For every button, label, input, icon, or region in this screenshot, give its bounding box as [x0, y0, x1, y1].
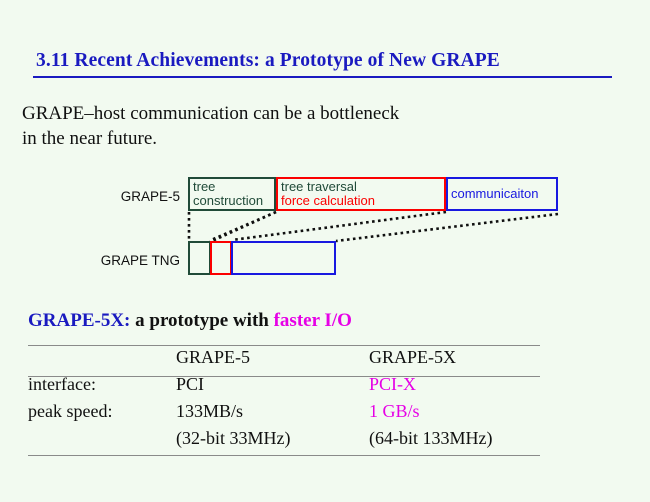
- box-label-tree-construction-line2: construction: [193, 194, 263, 209]
- intro-line-1: GRAPE–host communication can be a bottle…: [22, 101, 622, 126]
- diagram-box-tng-tree-traversal: [210, 241, 232, 275]
- diagram-box-communication: communicaiton: [446, 177, 558, 211]
- subheading-emphasis: faster I/O: [274, 310, 352, 331]
- cell-detail-grape5x: (64-bit 133MHz): [369, 425, 540, 452]
- table-row: peak speed: 133MB/s 1 GB/s: [28, 398, 540, 425]
- intro-paragraph: GRAPE–host communication can be a bottle…: [22, 101, 622, 151]
- box-label-communication: communicaiton: [451, 187, 538, 202]
- table-header-grape5: GRAPE-5: [176, 344, 369, 371]
- table-header-row: GRAPE-5 GRAPE-5X: [28, 344, 540, 371]
- spec-comparison-table: GRAPE-5 GRAPE-5X interface: PCI PCI-X pe…: [28, 344, 540, 452]
- table-row: (32-bit 33MHz) (64-bit 133MHz): [28, 425, 540, 452]
- subheading-highlight: GRAPE-5X:: [28, 310, 130, 331]
- intro-line-2: in the near future.: [22, 126, 622, 151]
- title-underline: [33, 76, 612, 78]
- cell-interface-grape5: PCI: [176, 371, 369, 398]
- page-title: 3.11 Recent Achievements: a Prototype of…: [36, 50, 614, 72]
- table-header-grape5x: GRAPE-5X: [369, 344, 540, 371]
- box-label-force-calculation: force calculation: [281, 194, 375, 209]
- diagram-box-tng-tree-construction: [188, 241, 211, 275]
- cell-detail-grape5: (32-bit 33MHz): [176, 425, 369, 452]
- cell-peak-speed-grape5x: 1 GB/s: [369, 398, 540, 425]
- table-header-blank: [28, 344, 176, 371]
- cell-peak-speed-grape5: 133MB/s: [176, 398, 369, 425]
- row-label-detail: [28, 425, 176, 452]
- diagram-box-tree-traversal: tree traversal force calculation: [276, 177, 446, 211]
- timeline-diagram: GRAPE-5 GRAPE TNG tree construction tree…: [0, 168, 650, 283]
- table-row: interface: PCI PCI-X: [28, 371, 540, 398]
- diagram-box-tree-construction: tree construction: [188, 177, 276, 211]
- row-label-interface: interface:: [28, 371, 176, 398]
- section-subheading: GRAPE-5X: a prototype with faster I/O: [28, 310, 352, 332]
- slide: 3.11 Recent Achievements: a Prototype of…: [0, 0, 650, 502]
- cell-interface-grape5x: PCI-X: [369, 371, 540, 398]
- subheading-middle: a prototype with: [130, 310, 273, 331]
- row-label-peak-speed: peak speed:: [28, 398, 176, 425]
- table-rule-bottom: [28, 455, 540, 456]
- diagram-box-tng-communication: [231, 241, 336, 275]
